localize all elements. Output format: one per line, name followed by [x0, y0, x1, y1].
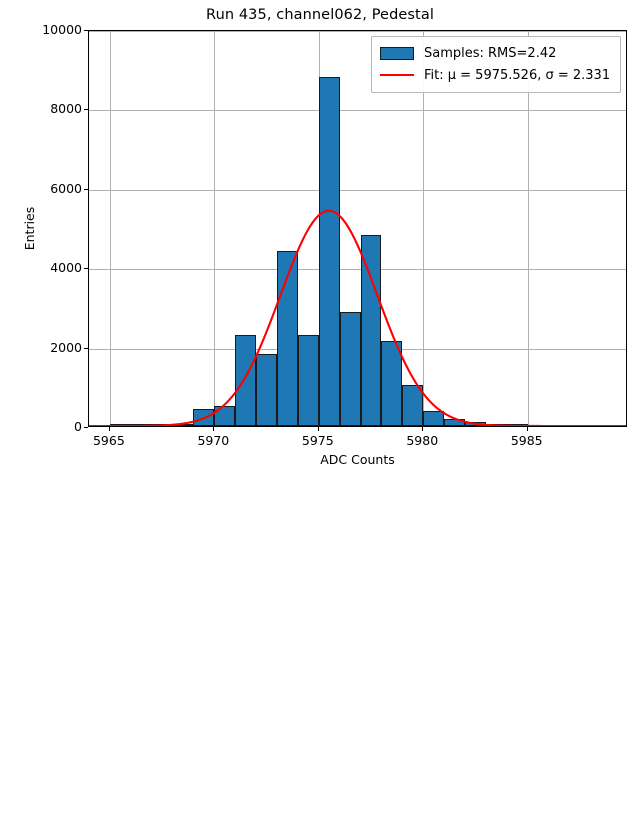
x-axis-tick-labels: 59655970597559805985: [88, 431, 627, 453]
y-tick-mark-4000: [84, 268, 88, 269]
y-tick-label-2000: 2000: [36, 340, 82, 355]
chart-title: Run 435, channel062, Pedestal: [0, 7, 640, 23]
y-tick-label-6000: 6000: [36, 181, 82, 196]
figure-canvas: Run 435, channel062, Pedestal 0200040006…: [0, 0, 640, 480]
x-tick-label-5970: 5970: [197, 433, 229, 448]
y-axis-label: Entries: [22, 30, 37, 427]
y-tick-mark-2000: [84, 348, 88, 349]
x-tick-mark-5980: [422, 427, 423, 431]
legend-label-fit: Fit: μ = 5975.526, σ = 2.331: [424, 68, 610, 83]
x-tick-mark-5985: [527, 427, 528, 431]
y-axis-label-wrap: Entries: [22, 427, 36, 824]
y-tick-mark-10000: [84, 30, 88, 31]
x-tick-label-5985: 5985: [511, 433, 543, 448]
legend-item-samples: Samples: RMS=2.42: [380, 42, 612, 64]
legend-patch-icon: [380, 47, 414, 60]
chart-legend: Samples: RMS=2.42 Fit: μ = 5975.526, σ =…: [371, 36, 621, 93]
x-axis-tick-marks: [88, 427, 627, 431]
legend-line-icon: [380, 74, 414, 76]
legend-label-samples: Samples: RMS=2.42: [424, 46, 556, 61]
x-tick-mark-5975: [318, 427, 319, 431]
y-axis-tick-labels: 0200040006000800010000: [32, 30, 82, 427]
y-axis-tick-marks: [84, 30, 88, 427]
x-tick-label-5980: 5980: [406, 433, 438, 448]
y-tick-label-4000: 4000: [36, 260, 82, 275]
x-tick-mark-5965: [109, 427, 110, 431]
x-tick-mark-5970: [213, 427, 214, 431]
legend-item-fit: Fit: μ = 5975.526, σ = 2.331: [380, 64, 612, 86]
y-tick-mark-8000: [84, 109, 88, 110]
y-tick-label-0: 0: [36, 419, 82, 434]
x-axis-label: ADC Counts: [88, 452, 627, 467]
y-tick-mark-6000: [84, 189, 88, 190]
x-tick-label-5965: 5965: [93, 433, 125, 448]
y-tick-label-8000: 8000: [36, 101, 82, 116]
x-tick-label-5975: 5975: [302, 433, 334, 448]
y-tick-label-10000: 10000: [36, 22, 82, 37]
